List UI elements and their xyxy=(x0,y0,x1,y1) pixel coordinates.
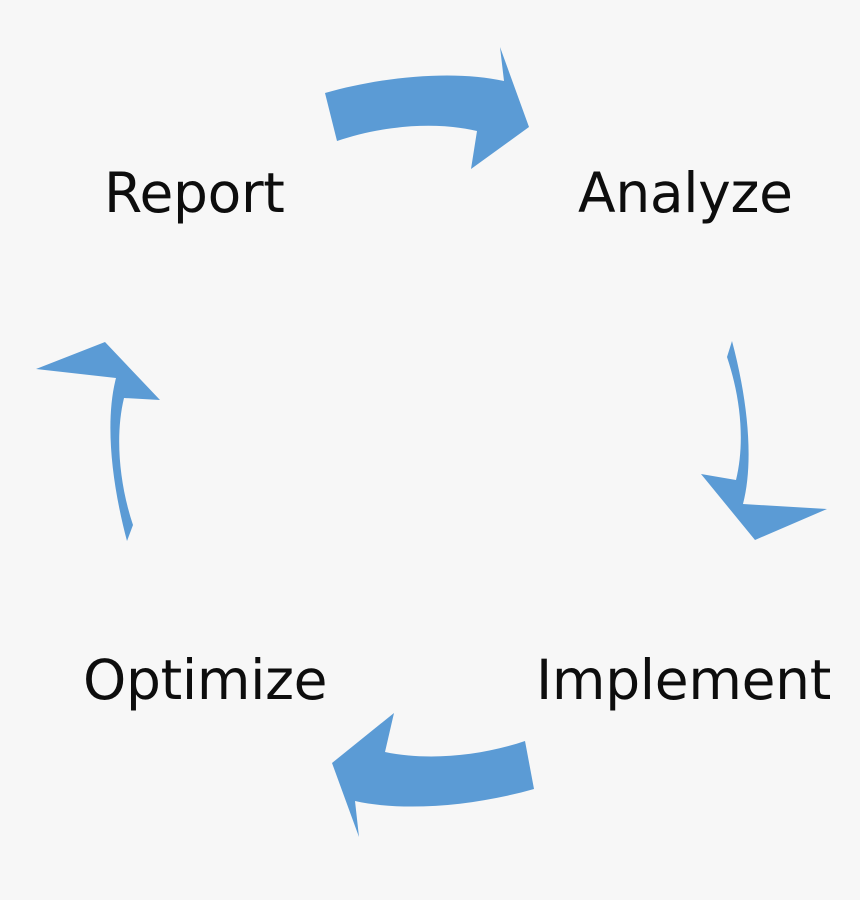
stage-label-implement: Implement xyxy=(536,653,831,708)
stage-label-analyze: Analyze xyxy=(578,166,793,221)
stage-label-optimize: Optimize xyxy=(83,653,327,708)
stage-label-report: Report xyxy=(104,166,285,221)
cycle-diagram: Report Analyze Implement Optimize xyxy=(0,0,860,900)
curved-arrow-right-icon xyxy=(325,47,529,169)
curved-arrow-left-icon xyxy=(332,713,534,837)
curved-arrow-up-icon xyxy=(36,342,160,541)
curved-arrow-down-icon xyxy=(701,341,827,540)
cycle-arrows-graphic xyxy=(0,0,860,900)
